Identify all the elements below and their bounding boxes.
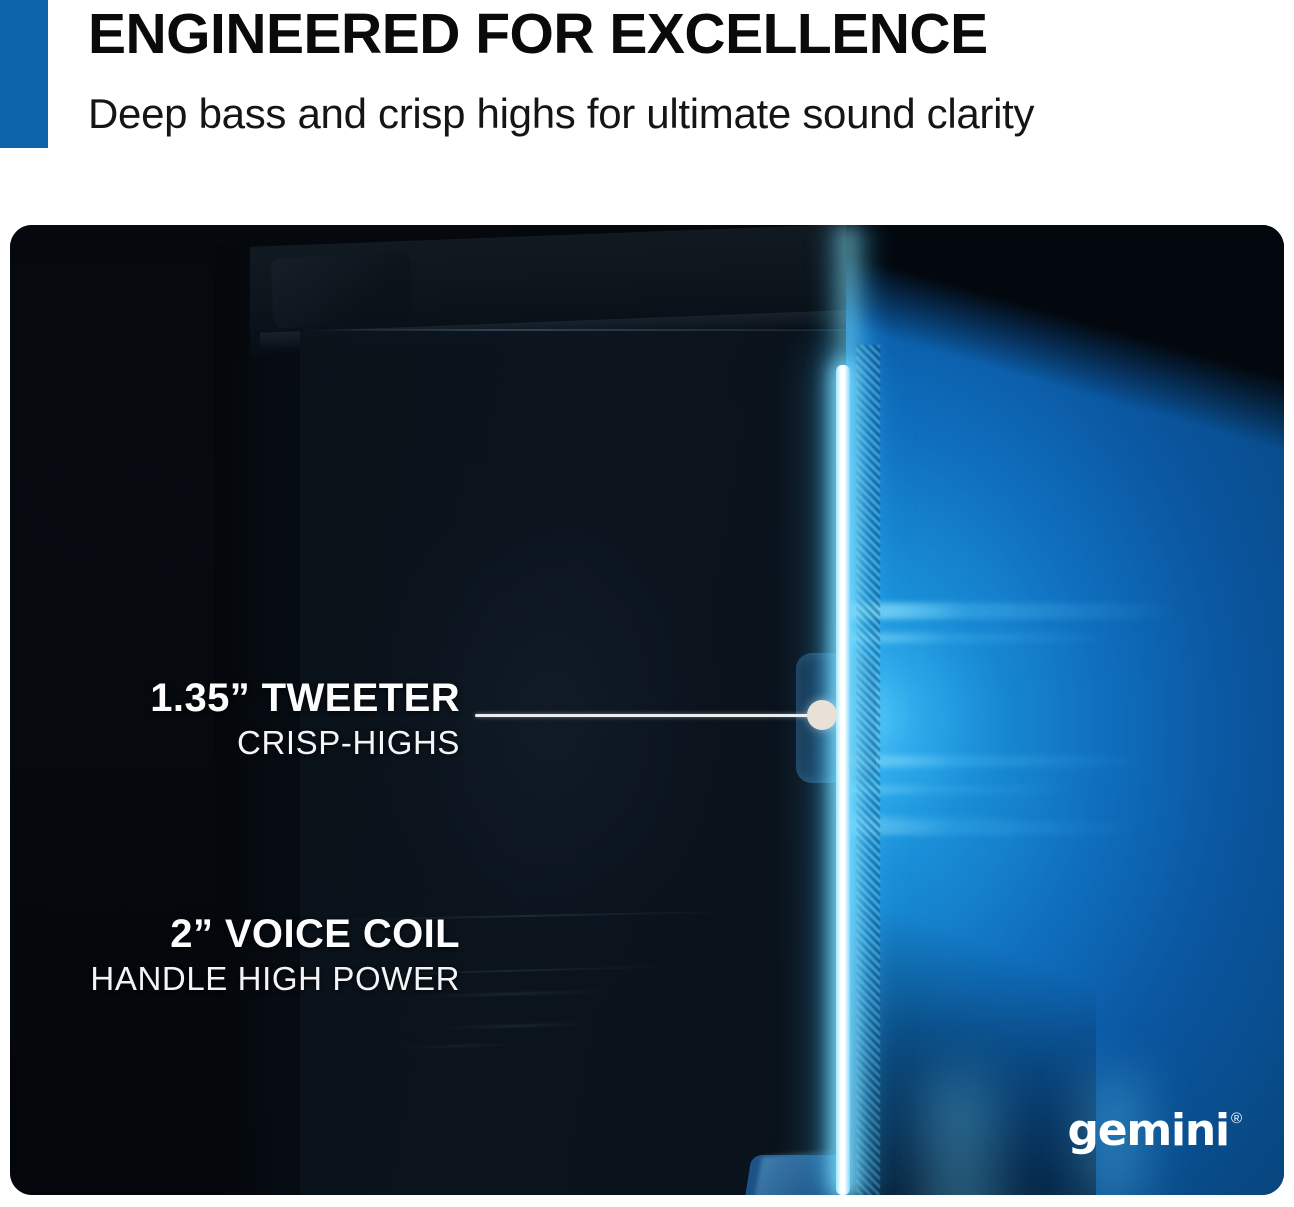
header: ENGINEERED FOR EXCELLENCE Deep bass and … — [0, 0, 1294, 210]
callout-dot-tweeter — [807, 700, 837, 730]
callout-voice-coil-subtitle: HANDLE HIGH POWER — [10, 959, 460, 999]
callout-voice-coil-title: 2” VOICE COIL — [10, 913, 460, 956]
light-beam — [850, 785, 1080, 794]
cabinet-seam-top — [300, 329, 860, 331]
light-beam — [850, 755, 1150, 767]
brand-logo-wordmark: gemini — [1067, 1109, 1228, 1153]
callout-voice-coil: 2” VOICE COIL HANDLE HIGH POWER — [10, 913, 460, 999]
glow-blob — [922, 1071, 996, 1195]
page-subtitle: Deep bass and crisp highs for ultimate s… — [88, 88, 1088, 140]
accent-bar — [0, 0, 48, 148]
product-image-panel: 1.35” TWEETER CRISP-HIGHS 2” VOICE COIL … — [10, 225, 1284, 1195]
brand-logo: gemini ® — [1067, 1109, 1242, 1153]
light-strip — [836, 365, 850, 1195]
cabinet-handle — [270, 251, 413, 328]
leader-line-tweeter — [475, 714, 820, 717]
callout-tweeter-subtitle: CRISP-HIGHS — [10, 723, 460, 763]
callout-tweeter: 1.35” TWEETER CRISP-HIGHS — [10, 677, 460, 763]
infographic-page: ENGINEERED FOR EXCELLENCE Deep bass and … — [0, 0, 1294, 1207]
light-beam — [850, 603, 1180, 619]
registered-trademark-icon: ® — [1231, 1111, 1242, 1126]
page-title: ENGINEERED FOR EXCELLENCE — [88, 4, 988, 64]
light-beam — [850, 633, 1120, 643]
light-beam — [850, 821, 1140, 835]
glow-shadow-wedge-top — [846, 225, 1284, 465]
callout-tweeter-title: 1.35” TWEETER — [10, 677, 460, 720]
